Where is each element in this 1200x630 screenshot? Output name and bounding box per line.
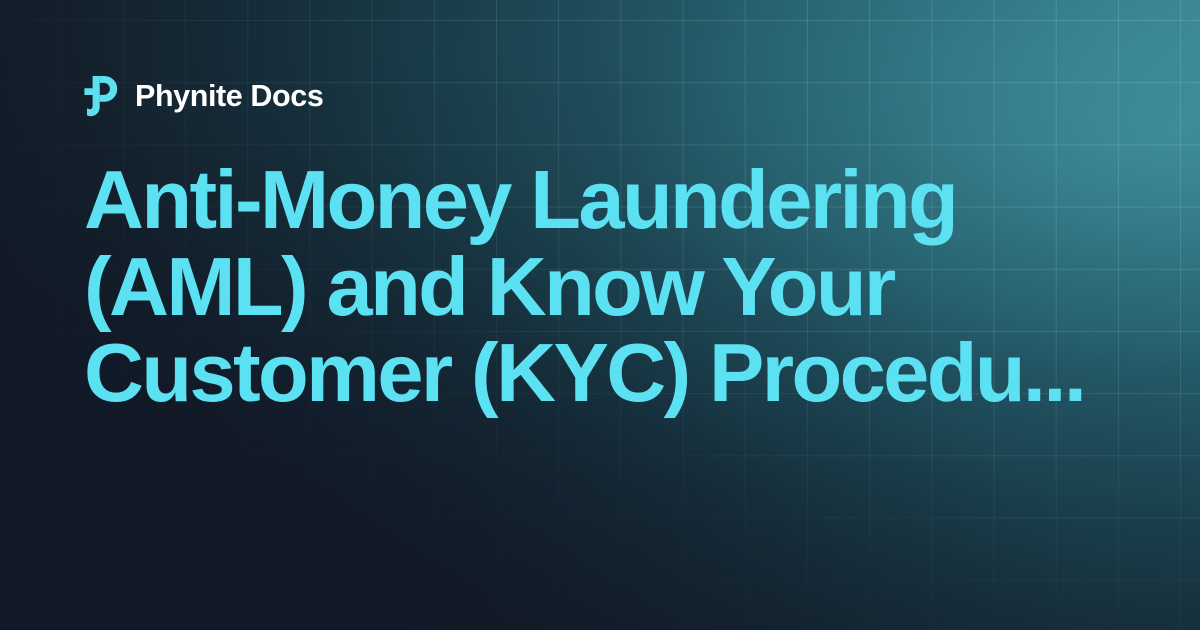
phynite-p-mark-icon — [84, 74, 118, 118]
page-title: Anti-Money Laundering (AML) and Know You… — [84, 157, 1094, 417]
brand-lockup: Phynite Docs — [84, 74, 1120, 118]
og-share-card: Phynite Docs Anti-Money Laundering (AML)… — [0, 0, 1200, 630]
brand-name-label: Phynite Docs — [135, 81, 323, 112]
card-content: Phynite Docs Anti-Money Laundering (AML)… — [0, 0, 1200, 630]
